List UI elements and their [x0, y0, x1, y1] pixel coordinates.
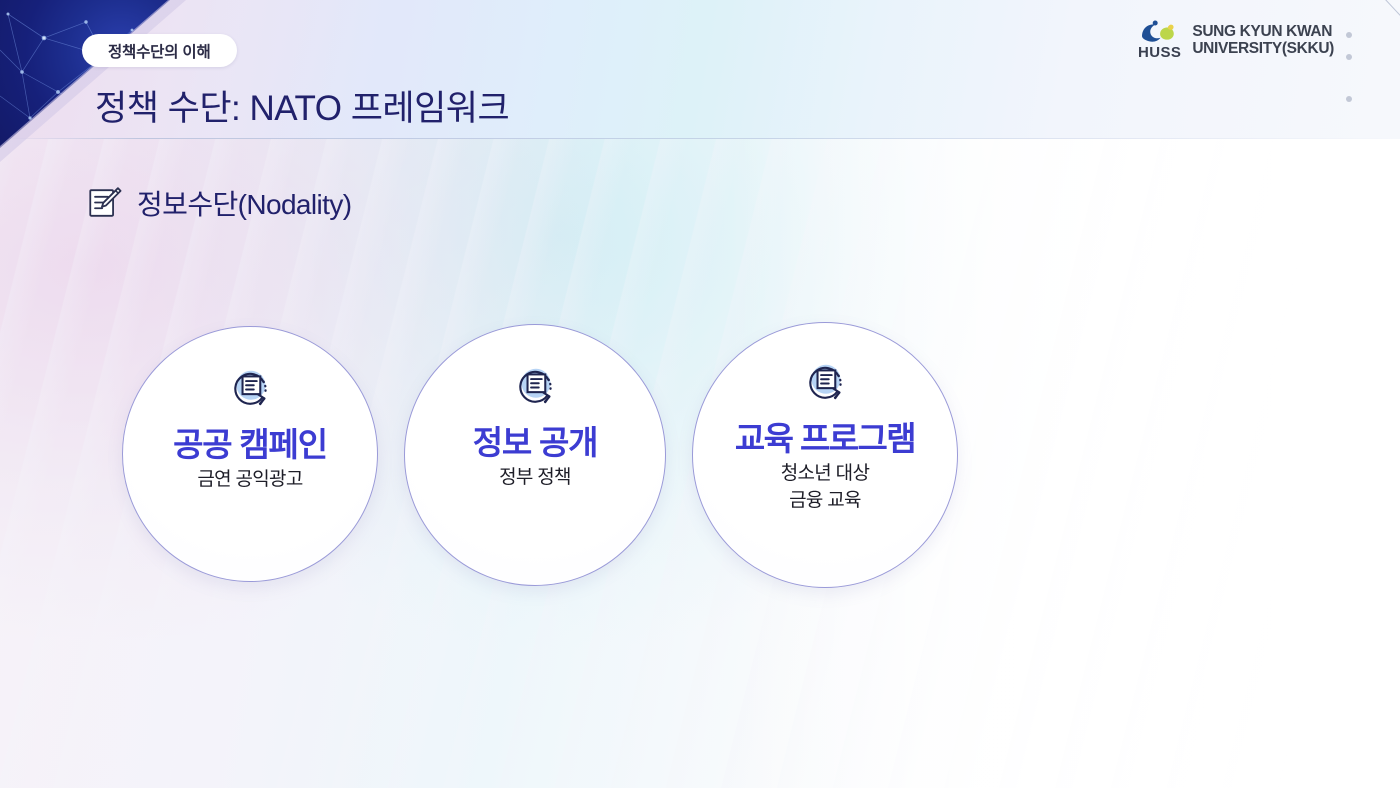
page-title: 정책 수단: NATO 프레임워크: [95, 80, 509, 131]
decorative-dot-1: [1346, 32, 1352, 38]
card-subtitle-line1: 청소년 대상: [781, 461, 869, 486]
skku-emblem-icon: [1139, 20, 1181, 44]
card-title: 정보 공개: [473, 425, 598, 461]
card-subtitle: 금연 공익광고: [197, 467, 302, 492]
skku-logo: HUSS SUNG KYUN KWAN UNIVERSITY(SKKU): [1138, 20, 1334, 60]
section-heading: 정보수단(Nodality): [86, 183, 351, 223]
card-title: 공공 캠페인: [173, 427, 327, 463]
document-refresh-icon: [222, 361, 278, 417]
card-subtitle-line2: 금융 교육: [789, 488, 861, 513]
memo-pencil-icon: [86, 184, 124, 222]
university-wordmark: SUNG KYUN KWAN UNIVERSITY(SKKU): [1192, 23, 1334, 58]
breadcrumb: 정책수단의 이해: [82, 34, 237, 67]
section-heading-label: 정보수단(Nodality): [137, 183, 351, 223]
card-education-program[interactable]: 교육 프로그램 청소년 대상 금융 교육: [692, 322, 958, 588]
breadcrumb-label: 정책수단의 이해: [108, 40, 211, 62]
card-information-disclosure[interactable]: 정보 공개 정부 정책: [404, 324, 666, 586]
huss-logo-mark: HUSS: [1138, 20, 1181, 60]
university-name-line2: UNIVERSITY(SKKU): [1192, 40, 1334, 57]
decorative-dot-3: [1346, 96, 1352, 102]
huss-wordmark: HUSS: [1138, 45, 1181, 60]
card-title: 교육 프로그램: [735, 421, 915, 457]
document-refresh-icon: [797, 355, 853, 411]
card-subtitle: 정부 정책: [499, 465, 571, 490]
slide-root: 정책수단의 이해 정책 수단: NATO 프레임워크 HUSS SUNG KYU…: [0, 0, 1400, 788]
card-public-campaign[interactable]: 공공 캠페인 금연 공익광고: [122, 326, 378, 582]
university-name-line1: SUNG KYUN KWAN: [1192, 23, 1334, 40]
cards-row: 공공 캠페인 금연 공익광고 정보 공개 정부 정책: [0, 326, 1400, 596]
document-refresh-icon: [507, 359, 563, 415]
decorative-dot-2: [1346, 54, 1352, 60]
